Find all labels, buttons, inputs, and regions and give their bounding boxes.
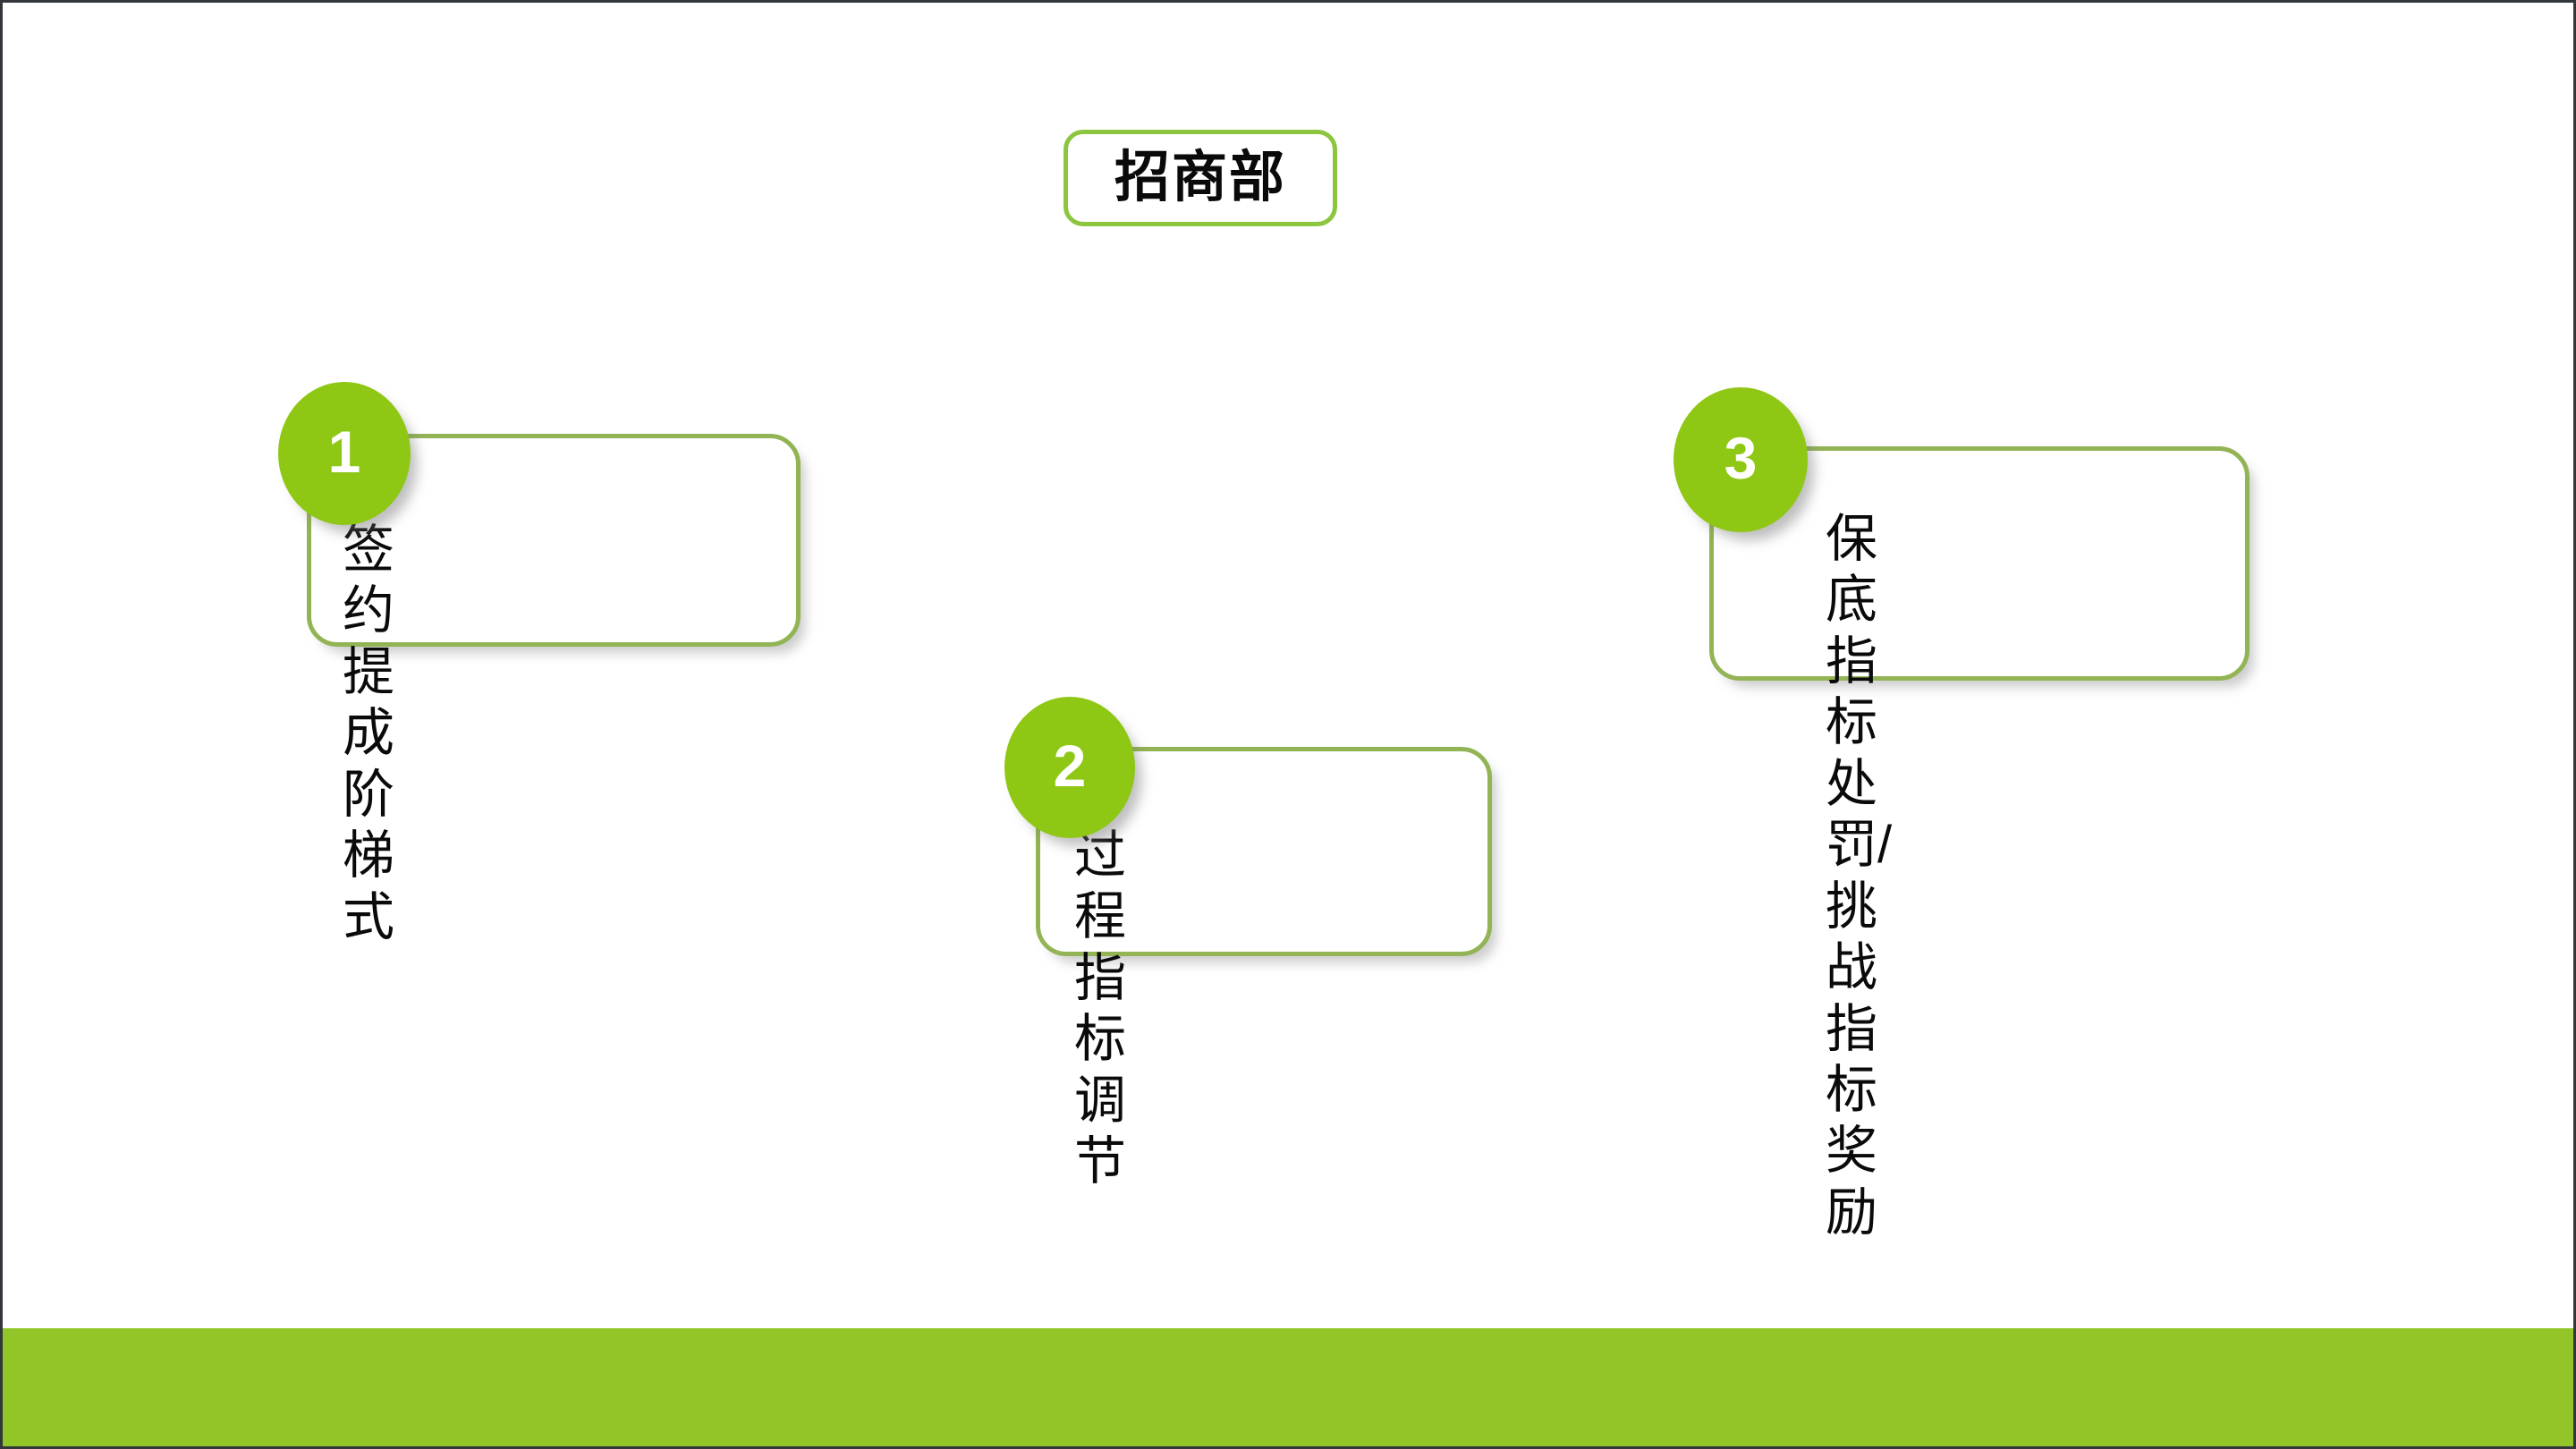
step-number-1: 1 <box>328 422 361 481</box>
step-number-3: 3 <box>1724 428 1758 487</box>
page-title-box: 招商部 <box>1063 130 1337 226</box>
step-label-3: 保底指标处罚/ 挑战指标奖励 <box>1826 509 1892 1243</box>
step-label-1: 签约提成阶梯式 <box>343 520 394 948</box>
slide-canvas: 招商部 签约提成阶梯式 1 过程指标调节 2 保底指标处罚/ 挑战指标奖励 3 … <box>0 0 2576 1449</box>
step-badge-2: 2 <box>1004 697 1135 838</box>
step-label-2: 过程指标调节 <box>1074 826 1126 1193</box>
step-badge-1: 1 <box>278 382 411 525</box>
step-number-2: 2 <box>1054 736 1087 795</box>
footer-bar: SHARE U G M 头条 @文米先生 <box>3 1328 2576 1449</box>
step-badge-3: 3 <box>1674 387 1808 532</box>
page-title: 招商部 <box>1114 150 1286 206</box>
